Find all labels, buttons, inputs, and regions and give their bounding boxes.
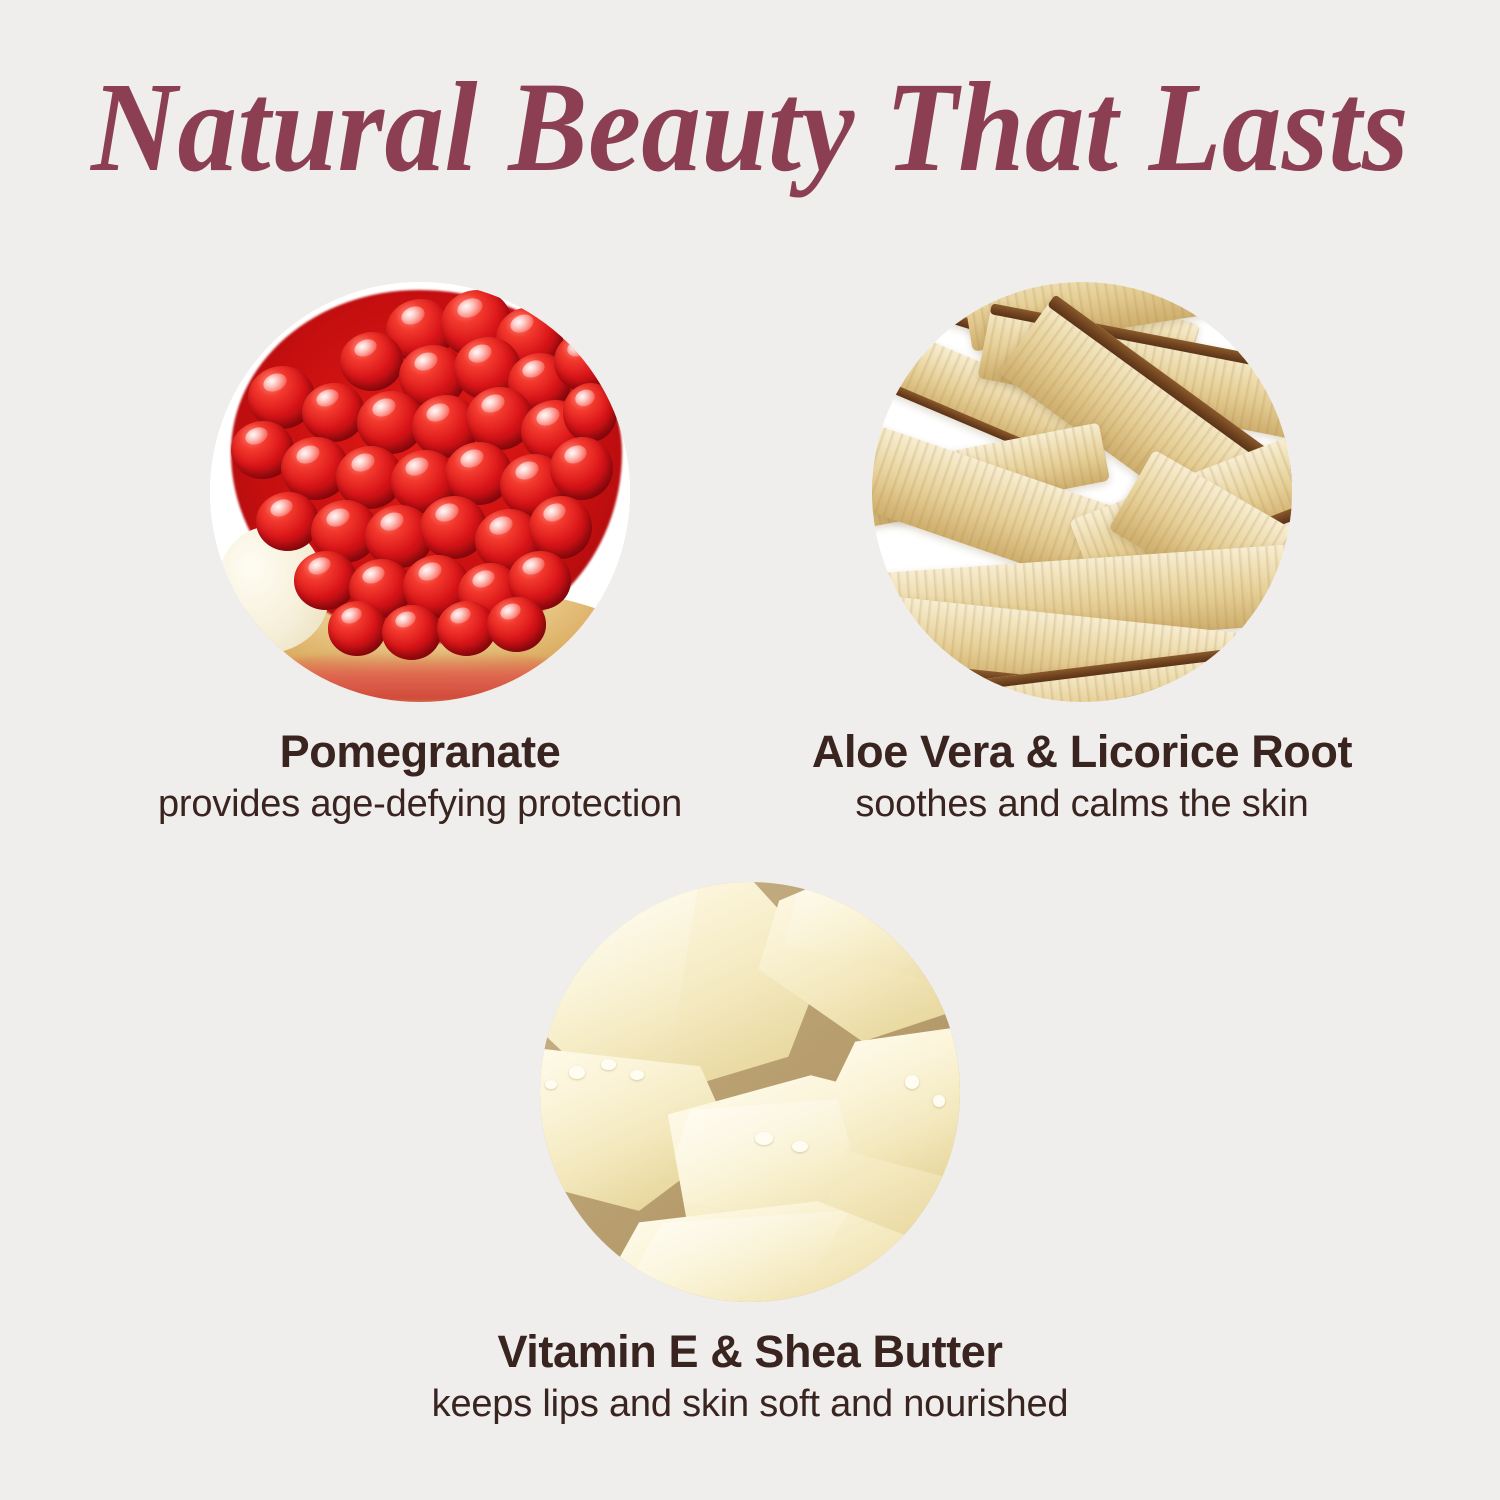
pomegranate-artwork [210,282,630,702]
ingredient-description: soothes and calms the skin [712,783,1452,826]
page-title: Natural Beauty That Lasts [53,58,1448,196]
licorice-root-photo [872,282,1292,702]
ingredient-name: Aloe Vera & Licorice Root [712,728,1452,775]
shea-butter-artwork [540,882,960,1302]
ingredient-name: Pomegranate [50,728,790,775]
licorice-root-artwork [872,282,1292,702]
ingredient-name: Vitamin E & Shea Butter [380,1328,1120,1375]
ingredient-description: keeps lips and skin soft and nourished [380,1383,1120,1426]
ingredient-description: provides age-defying protection [50,783,790,826]
ingredient-card-licorice-root: Aloe Vera & Licorice Root soothes and ca… [712,282,1452,826]
ingredient-card-shea-butter: Vitamin E & Shea Butter keeps lips and s… [380,882,1120,1426]
infographic-page: Natural Beauty That Lasts [0,0,1500,1500]
shea-butter-photo [540,882,960,1302]
pomegranate-photo [210,282,630,702]
ingredient-card-pomegranate: Pomegranate provides age-defying protect… [50,282,790,826]
